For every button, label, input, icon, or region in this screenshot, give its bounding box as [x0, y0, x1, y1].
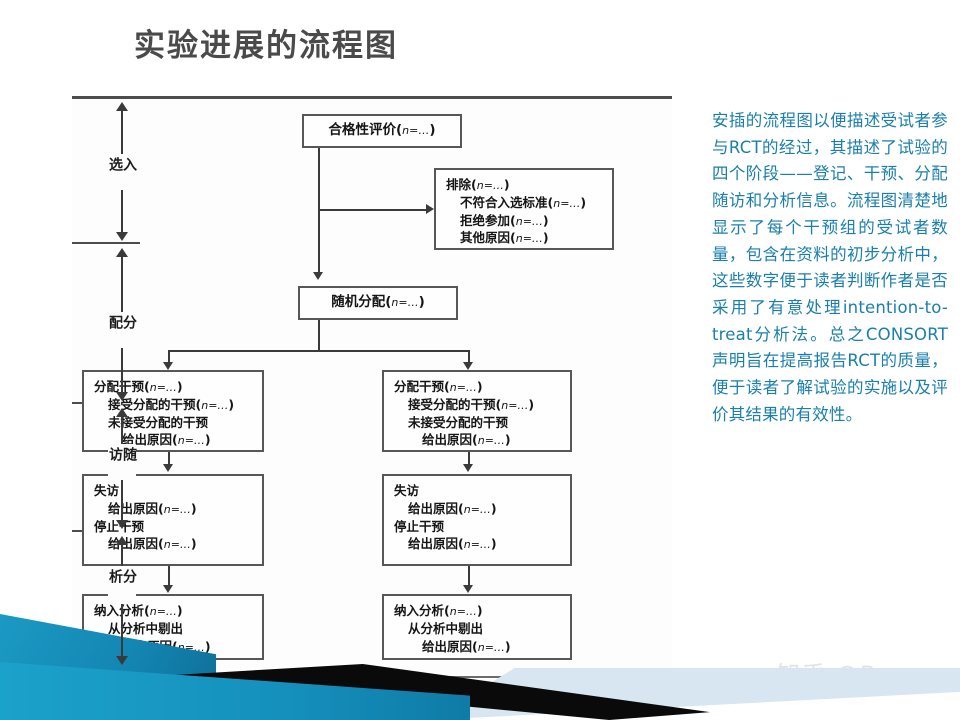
connector-tip-to-excluded: [426, 204, 434, 214]
sample-size-value: n=…: [164, 538, 191, 551]
node-line: 拒绝参加(n=…): [446, 212, 602, 230]
node-line: 失访: [394, 482, 560, 500]
node-line: 给出原因(n=…): [394, 638, 560, 656]
sample-size-value: n=…: [450, 605, 477, 618]
node-line: 随机分配(n=…): [331, 293, 425, 312]
node-line: 给出原因(n=…): [394, 500, 560, 518]
node-line: 分配干预(n=…): [394, 378, 560, 396]
stage-label-allocation: 分配: [108, 312, 136, 348]
node-line: 失访: [94, 482, 252, 500]
connector-randomized-down: [318, 320, 320, 350]
node-randomized[interactable]: 随机分配(n=…): [298, 286, 458, 320]
sample-size-value: n=…: [464, 538, 491, 551]
stage-rule-1: [72, 242, 140, 244]
node-line: 未接受分配的干预: [394, 414, 560, 432]
node-line: 给出原因(n=…): [94, 500, 252, 518]
sample-size-value: n=…: [402, 124, 429, 137]
description-paragraph: 安插的流程图以便描述受试者参与RCT的经过，其描述了试验的四个阶段——登记、干预…: [712, 108, 948, 429]
connector-split-bar: [168, 350, 468, 352]
stage-enrollment: 入选: [110, 154, 134, 190]
sample-size-value: n=…: [150, 605, 177, 618]
node-followup-left[interactable]: 失访给出原因(n=…)停止干预给出原因(n=…): [82, 474, 264, 566]
stage-line-allocation-upper: [121, 256, 123, 312]
stage-line-analysis-lower: [121, 604, 123, 656]
node-line: 从分析中剔出: [94, 620, 252, 638]
node-line: 合格性评价(n=…): [328, 121, 435, 140]
connector-to-excluded: [318, 209, 428, 211]
node-analysis-right[interactable]: 纳入分析(n=…)从分析中剔出给出原因(n=…): [382, 594, 572, 660]
connector-tip-alloc-right: [463, 362, 473, 370]
node-line: 纳入分析(n=…): [94, 602, 252, 620]
node-line: 给出原因(n=…): [394, 535, 560, 553]
node-line: 给出原因(n=…): [394, 431, 560, 449]
stage-line-enrollment-upper: [121, 110, 123, 154]
node-line: 从分析中剔出: [394, 620, 560, 638]
stage-line-followup-lower: [121, 480, 123, 520]
stage-arrow-up-enrollment: [116, 102, 128, 111]
sample-size-value: n=…: [478, 434, 505, 447]
stage-line-enrollment-lower: [121, 190, 123, 232]
stage-allocation: 分配: [110, 312, 134, 348]
node-line: 停止干预: [394, 518, 560, 536]
node-line: 纳入分析(n=…): [394, 602, 560, 620]
sample-size-value: n=…: [150, 381, 177, 394]
sample-size-value: n=…: [450, 381, 477, 394]
stage-arrow-up-analysis: [116, 536, 128, 545]
sample-size-value: n=…: [201, 399, 228, 412]
stage-arrow-down-enrollment: [116, 232, 128, 241]
connector-tip-followleft: [163, 464, 173, 472]
node-allocation-left[interactable]: 分配干预(n=…)接受分配的干预(n=…)未接受分配的干预给出原因(n=…): [82, 370, 264, 452]
connector-tip-to-randomized: [313, 272, 323, 280]
stage-followup: 随访: [110, 444, 134, 480]
node-line: 排除(n=…): [446, 176, 602, 194]
sample-size-value: n=…: [478, 641, 505, 654]
stage-label-followup: 随访: [108, 444, 136, 480]
node-line: 不符合入选标准(n=…): [446, 194, 602, 212]
connector-tip-analysisleft: [163, 585, 173, 593]
stage-line-followup-upper: [121, 416, 123, 444]
sample-size-value: n=…: [464, 503, 491, 516]
sample-size-value: n=…: [391, 296, 418, 309]
stage-line-allocation-lower: [121, 348, 123, 392]
node-allocation-right[interactable]: 分配干预(n=…)接受分配的干预(n=…)未接受分配的干预给出原因(n=…): [382, 370, 572, 452]
node-line: 接受分配的干预(n=…): [394, 396, 560, 414]
sample-size-value: n=…: [501, 399, 528, 412]
page-title: 实验进展的流程图: [134, 20, 398, 65]
node-followup-right[interactable]: 失访给出原因(n=…)停止干预给出原因(n=…): [382, 474, 572, 566]
stage-arrow-down-allocation: [116, 392, 128, 401]
stage-arrow-up-followup: [116, 408, 128, 417]
stage-label-analysis: 分析: [108, 566, 136, 604]
sample-size-value: n=…: [178, 434, 205, 447]
node-excluded[interactable]: 排除(n=…)不符合入选标准(n=…)拒绝参加(n=…)其他原因(n=…): [434, 168, 614, 250]
stage-arrow-down-analysis: [116, 656, 128, 665]
node-line: 其他原因(n=…): [446, 229, 602, 247]
stage-rule-top: [72, 96, 672, 99]
connector-tip-alloc-left: [163, 362, 173, 370]
sample-size-value: n=…: [516, 215, 543, 228]
sample-size-value: n=…: [477, 179, 504, 192]
connector-tip-followright: [463, 464, 473, 472]
stage-arrow-up-allocation: [116, 248, 128, 257]
stage-line-analysis-upper: [121, 544, 123, 566]
stage-label-enrollment: 入选: [108, 154, 136, 190]
stage-analysis: 分析: [110, 566, 134, 604]
sample-size-value: n=…: [164, 503, 191, 516]
connector-tip-analysisright: [463, 585, 473, 593]
sample-size-value: n=…: [553, 197, 580, 210]
flowchart-canvas: 入选 分配 随访 分析 合格性评价(n=…) 排除(n=: [72, 96, 672, 688]
node-eligibility[interactable]: 合格性评价(n=…): [302, 114, 462, 148]
stage-arrow-down-followup: [116, 520, 128, 529]
sample-size-value: n=…: [516, 232, 543, 245]
